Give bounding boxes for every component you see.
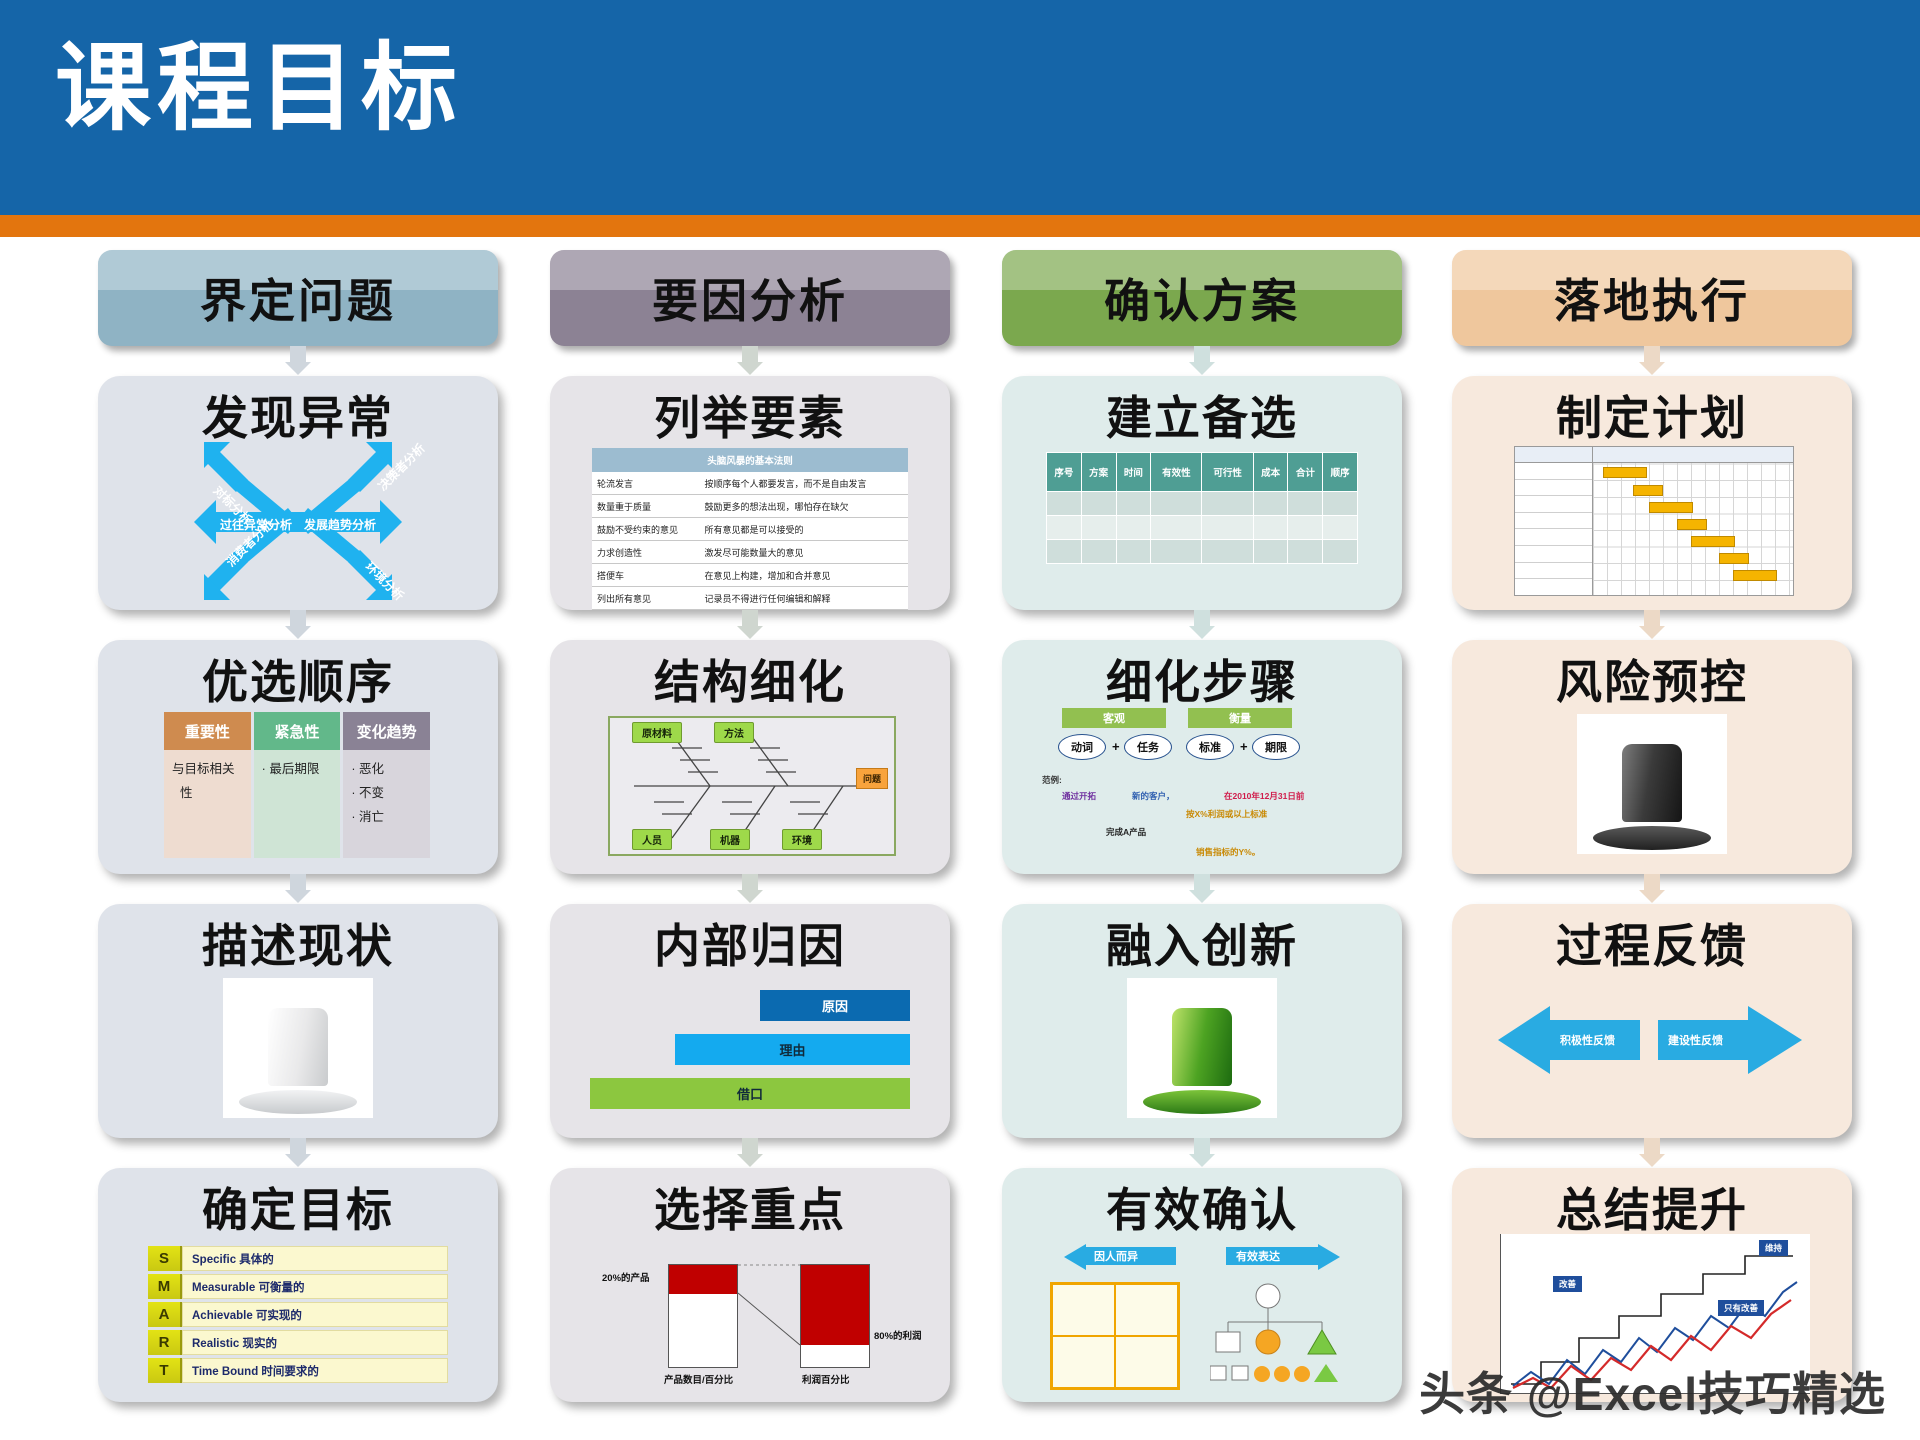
card-process-feedback[interactable]: 过程反馈 积极性反馈 建设性反馈 [1452, 904, 1852, 1138]
card-effective-confirm[interactable]: 有效确认 因人而异 有效表达 [1002, 1168, 1402, 1402]
gantt-task [1515, 463, 1592, 480]
hat-icon [1592, 736, 1712, 854]
column-header-3[interactable]: 确认方案 [1002, 250, 1402, 346]
table-row: 搭便车在意见上构建，增加和合并意见 [592, 564, 908, 587]
card-title: 融入创新 [1002, 910, 1402, 976]
slide-header: 课程目标 [0, 0, 1920, 215]
priority-item-label: 恶化 [359, 762, 384, 776]
smart-row: S Specific 具体的 [148, 1246, 448, 1271]
pareto-connectors [602, 1248, 902, 1388]
white-hat-image [223, 978, 373, 1118]
refine-steps-diagram: 客观 衡量 动词 + 任务 标准 + 期限 范例: 通过开拓 新的客户， 在20… [1036, 708, 1378, 868]
connector-arrow [1189, 346, 1215, 376]
attribution-row: 借口 [590, 1078, 910, 1109]
gantt-bar [1649, 502, 1693, 513]
gantt-bar [1633, 485, 1663, 496]
card-internal-attribution[interactable]: 内部归因 原因 理由 借口 [550, 904, 950, 1138]
example-part: 按X%利润或以上标准 [1186, 808, 1267, 820]
example-part: 销售指标的Y%。 [1196, 846, 1260, 858]
cross-arrows-svg [98, 438, 498, 604]
smart-key: T [148, 1358, 182, 1383]
hat-icon [238, 1000, 358, 1118]
card-set-goal[interactable]: 确定目标 S Specific 具体的 M Measurable 可衡量的 A … [98, 1168, 498, 1402]
th-cost: 成本 [1253, 453, 1288, 492]
gantt-task [1515, 480, 1592, 497]
column-cause-analysis: 要因分析 列举要素 头脑风暴的基本法则 轮流发言按顺序每个人都要发言，而不是自由… [550, 250, 950, 1402]
column-header-2[interactable]: 要因分析 [550, 250, 950, 346]
table-row [1047, 492, 1358, 516]
gantt-bar [1733, 570, 1777, 581]
table-row: 数量重于质量鼓励更多的想法出现，哪怕存在缺欠 [592, 495, 908, 518]
priority-head: 变化趋势 [343, 712, 430, 750]
plus-sign: + [1240, 739, 1248, 754]
rule-name: 数量重于质量 [592, 495, 699, 518]
table-row [1047, 540, 1358, 564]
card-title: 过程反馈 [1452, 910, 1852, 976]
card-describe-status[interactable]: 描述现状 [98, 904, 498, 1138]
card-priority-order[interactable]: 优选顺序 重要性 与目标相关性 紧急性 · 最后期限 变化趋势 [98, 640, 498, 874]
cross-arrows-diagram: 对标分析 决策者分析 过往异常分析 发展趋势分析 消费者分析 环境分析 [98, 438, 498, 604]
card-title: 有效确认 [1002, 1174, 1402, 1240]
smart-text: Achievable 可实现的 [182, 1302, 448, 1327]
column-confirm-plan: 确认方案 建立备选 序号 方案 时间 有效性 可行性 成本 合计 顺序 [1002, 250, 1402, 1402]
fishbone-box-environment: 环境 [782, 829, 822, 850]
smart-key: S [148, 1246, 182, 1271]
smart-text: Time Bound 时间要求的 [182, 1358, 448, 1383]
card-title: 总结提升 [1452, 1174, 1852, 1240]
card-title: 确定目标 [98, 1174, 498, 1240]
header-accent-rule [0, 215, 1920, 237]
ellipse-standard: 标准 [1186, 734, 1234, 760]
pareto-xlabel-left: 产品数目/百分比 [664, 1372, 733, 1386]
card-title: 选择重点 [550, 1174, 950, 1240]
fishbone-diagram: 原材料 方法 人员 机器 环境 问题 [608, 716, 896, 856]
ellipse-verb: 动词 [1058, 734, 1106, 760]
priority-body: · 恶化 · 不变 · 消亡 [343, 750, 430, 858]
example-part: 新的客户， [1132, 790, 1175, 802]
priority-head: 重要性 [164, 712, 251, 750]
example-label: 范例: [1042, 774, 1062, 786]
rule-name: 酝酿 [592, 610, 699, 611]
smart-key: A [148, 1302, 182, 1327]
attribution-row: 理由 [590, 1034, 910, 1065]
ellipse-deadline: 期限 [1252, 734, 1300, 760]
rule-desc: 所有意见都是可以接受的 [699, 518, 908, 541]
card-title: 结构细化 [550, 646, 950, 712]
card-title: 风险预控 [1452, 646, 1852, 712]
smart-text: Specific 具体的 [182, 1246, 448, 1271]
gantt-task [1515, 513, 1592, 530]
two-by-two-matrix [1050, 1282, 1180, 1390]
green-hat-image [1127, 978, 1277, 1118]
connector-arrow [1189, 1138, 1215, 1168]
watermark: 头条 @Excel技巧精选 [1419, 1358, 1886, 1424]
card-structure-refine[interactable]: 结构细化 [550, 640, 950, 874]
feedback-label-positive: 积极性反馈 [1560, 1032, 1615, 1048]
rule-name: 轮流发言 [592, 472, 699, 495]
example-part: 在2010年12月31日前 [1224, 790, 1304, 802]
feedback-label-constructive: 建设性反馈 [1668, 1032, 1723, 1048]
gantt-task [1515, 496, 1592, 513]
card-title: 发现异常 [98, 382, 498, 448]
connector-arrow [1189, 874, 1215, 904]
rule-desc: 花点时间思考列出的意见，经常激励新想法 [699, 610, 908, 611]
card-title: 优选顺序 [98, 646, 498, 712]
summary-tag-maintain: 维持 [1759, 1240, 1788, 1256]
gantt-bar [1603, 467, 1647, 478]
smart-goal-list: S Specific 具体的 M Measurable 可衡量的 A Achie… [148, 1246, 448, 1386]
table-row: 力求创造性激发尽可能数量大的意见 [592, 541, 908, 564]
black-hat-image [1577, 714, 1727, 854]
column-header-4[interactable]: 落地执行 [1452, 250, 1852, 346]
card-title: 制定计划 [1452, 382, 1852, 448]
column-header-label: 确认方案 [1104, 265, 1300, 331]
priority-item: 与目标相关性 [172, 758, 245, 806]
column-execute: 落地执行 制定计划 [1452, 250, 1852, 1402]
table-row: 列出所有意见记录员不得进行任何编辑和解释 [592, 587, 908, 610]
card-title: 细化步骤 [1002, 646, 1402, 712]
rule-desc: 鼓励更多的想法出现，哪怕存在缺欠 [699, 495, 908, 518]
priority-head: 紧急性 [254, 712, 341, 750]
gantt-task [1515, 563, 1592, 580]
alternatives-table: 序号 方案 时间 有效性 可行性 成本 合计 顺序 [1046, 452, 1358, 564]
connector-arrow [285, 346, 311, 376]
th-time: 时间 [1116, 453, 1151, 492]
priority-body: · 最后期限 [254, 750, 341, 858]
confirm-arrow-label-right: 有效表达 [1236, 1248, 1280, 1264]
smart-key: M [148, 1274, 182, 1299]
th-index: 序号 [1047, 453, 1082, 492]
smart-text: Realistic 现实的 [182, 1330, 448, 1355]
pareto-xlabel-right: 利润百分比 [802, 1372, 850, 1386]
gantt-timeline [1593, 447, 1793, 595]
card-title: 列举要素 [550, 382, 950, 448]
gantt-task [1515, 546, 1592, 563]
rule-desc: 在意见上构建，增加和合并意见 [699, 564, 908, 587]
fishbone-box-material: 原材料 [632, 722, 682, 743]
priority-table: 重要性 与目标相关性 紧急性 · 最后期限 变化趋势 · 恶化 · 不变 [164, 712, 430, 858]
confirm-arrow-label-left: 因人而异 [1094, 1248, 1138, 1264]
gantt-bar [1691, 536, 1735, 547]
table-row [1047, 516, 1358, 540]
gantt-bar [1677, 519, 1707, 530]
table-title: 头脑风暴的基本法则 [592, 448, 908, 472]
rule-name: 搭便车 [592, 564, 699, 587]
gantt-bar [1719, 553, 1749, 564]
summary-tag-improve: 改善 [1553, 1276, 1582, 1292]
ellipse-task: 任务 [1124, 734, 1172, 760]
priority-column-urgency: 紧急性 · 最后期限 [254, 712, 341, 858]
connector-arrow [285, 1138, 311, 1168]
pareto-chart: 20%的产品 80%的利润 产品数目/百分比 利润百分比 [602, 1248, 902, 1388]
priority-item-label: 消亡 [359, 810, 384, 824]
smart-row: A Achievable 可实现的 [148, 1302, 448, 1327]
smart-row: M Measurable 可衡量的 [148, 1274, 448, 1299]
smart-row: T Time Bound 时间要求的 [148, 1358, 448, 1383]
attribution-bar-cause: 原因 [760, 990, 910, 1021]
th-effectiveness: 有效性 [1151, 453, 1202, 492]
attribution-bar-excuse: 借口 [590, 1078, 910, 1109]
smart-key: R [148, 1330, 182, 1355]
feedback-arrows-svg [1492, 988, 1812, 1098]
priority-column-trend: 变化趋势 · 恶化 · 不变 · 消亡 [343, 712, 430, 858]
confirm-diagram: 因人而异 有效表达 [1040, 1236, 1378, 1396]
card-list-elements[interactable]: 列举要素 头脑风暴的基本法则 轮流发言按顺序每个人都要发言，而不是自由发言 数量… [550, 376, 950, 610]
card-make-plan[interactable]: 制定计划 [1452, 376, 1852, 610]
priority-item: · 消亡 [351, 806, 424, 830]
page-title: 课程目标 [55, 34, 463, 144]
connector-arrow [737, 610, 763, 640]
rule-desc: 记录员不得进行任何编辑和解释 [699, 587, 908, 610]
connector-arrow [737, 1138, 763, 1168]
summary-tag-only-improve: 只有改善 [1718, 1300, 1764, 1316]
column-header-label: 界定问题 [200, 265, 396, 331]
table-row: 鼓励不受约束的意见所有意见都是可以接受的 [592, 518, 908, 541]
connector-arrow [1639, 874, 1665, 904]
column-define-problem: 界定问题 发现异常 [98, 250, 498, 1402]
connector-arrow [285, 874, 311, 904]
attribution-bars: 原因 理由 借口 [590, 990, 910, 1122]
example-part: 通过开拓 [1062, 790, 1096, 802]
connector-arrow [737, 346, 763, 376]
th-total: 合计 [1288, 453, 1323, 492]
gantt-chart [1514, 446, 1794, 596]
fishbone-box-method: 方法 [714, 722, 754, 743]
card-risk-control[interactable]: 风险预控 [1452, 640, 1852, 874]
connector-arrow [1639, 346, 1665, 376]
priority-item: · 不变 [351, 782, 424, 806]
hat-icon [1142, 1000, 1262, 1118]
gantt-task-list [1515, 447, 1593, 595]
card-title: 描述现状 [98, 910, 498, 976]
th-plan: 方案 [1081, 453, 1116, 492]
connector-arrow [1639, 1138, 1665, 1168]
card-title: 内部归因 [550, 910, 950, 976]
card-select-focus[interactable]: 选择重点 20%的产品 80%的利润 产品数目/百分比 利润百分比 [550, 1168, 950, 1402]
rule-desc: 激发尽可能数量大的意见 [699, 541, 908, 564]
rule-desc: 按顺序每个人都要发言，而不是自由发言 [699, 472, 908, 495]
connector-arrow [737, 874, 763, 904]
table-header-row: 序号 方案 时间 有效性 可行性 成本 合计 顺序 [1047, 453, 1358, 492]
rule-name: 鼓励不受约束的意见 [592, 518, 699, 541]
card-build-alternatives[interactable]: 建立备选 序号 方案 时间 有效性 可行性 成本 合计 顺序 [1002, 376, 1402, 610]
card-integrate-innovation[interactable]: 融入创新 [1002, 904, 1402, 1138]
table-row: 轮流发言按顺序每个人都要发言，而不是自由发言 [592, 472, 908, 495]
brainstorm-table: 头脑风暴的基本法则 轮流发言按顺序每个人都要发言，而不是自由发言 数量重于质量鼓… [592, 448, 908, 610]
priority-item: · 最后期限 [262, 758, 335, 782]
fishbone-problem-box: 问题 [856, 768, 888, 789]
card-title: 建立备选 [1002, 382, 1402, 448]
smart-row: R Realistic 现实的 [148, 1330, 448, 1355]
gantt-task [1515, 529, 1592, 546]
column-header-1[interactable]: 界定问题 [98, 250, 498, 346]
priority-body: 与目标相关性 [164, 750, 251, 858]
card-discover-anomaly[interactable]: 发现异常 [98, 376, 498, 610]
plus-sign: + [1112, 739, 1120, 754]
column-header-label: 要因分析 [652, 265, 848, 331]
connector-arrow [1189, 610, 1215, 640]
feedback-arrows: 积极性反馈 建设性反馈 [1492, 988, 1812, 1098]
connector-arrow [285, 610, 311, 640]
smart-text: Measurable 可衡量的 [182, 1274, 448, 1299]
th-feasibility: 可行性 [1202, 453, 1253, 492]
column-header-label: 落地执行 [1554, 265, 1750, 331]
th-order: 顺序 [1323, 453, 1358, 492]
fishbone-box-person: 人员 [632, 829, 672, 850]
attribution-row: 原因 [590, 990, 910, 1021]
rule-name: 列出所有意见 [592, 587, 699, 610]
fishbone-box-machine: 机器 [710, 829, 750, 850]
priority-column-importance: 重要性 与目标相关性 [164, 712, 251, 858]
priority-item-label: 最后期限 [269, 762, 319, 776]
rule-name: 力求创造性 [592, 541, 699, 564]
org-chart-svg [1210, 1282, 1360, 1392]
card-refine-steps[interactable]: 细化步骤 客观 衡量 动词 + 任务 标准 + 期限 范例: 通过开拓 新的客户… [1002, 640, 1402, 874]
connector-arrow [1639, 610, 1665, 640]
example-part: 完成A产品 [1106, 826, 1146, 838]
priority-item: · 恶化 [351, 758, 424, 782]
priority-item-label: 不变 [359, 786, 384, 800]
arrow-label-trend: 发展趋势分析 [304, 516, 376, 533]
process-board: 界定问题 发现异常 [0, 250, 1920, 1440]
attribution-bar-reason: 理由 [675, 1034, 910, 1065]
